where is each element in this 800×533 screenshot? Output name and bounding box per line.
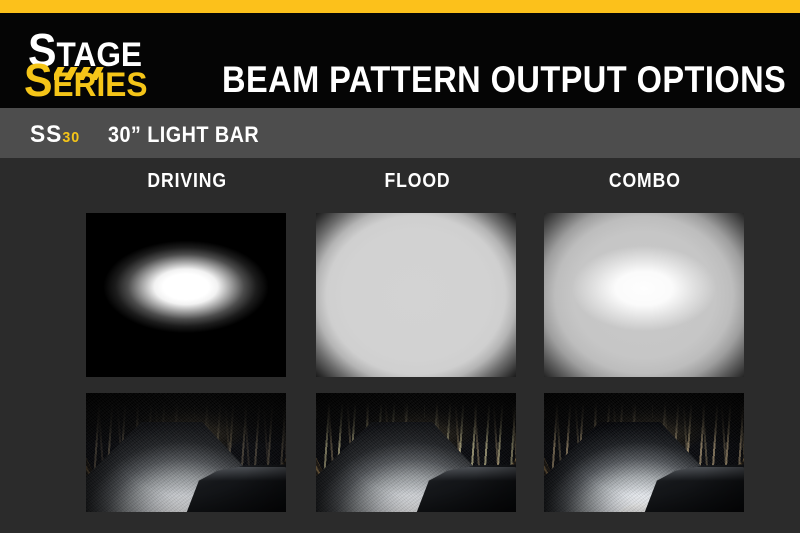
photo-vignette — [544, 393, 744, 512]
driving-road-photo — [86, 393, 286, 512]
product-subtitle-bar: SS30 30” LIGHT BAR — [0, 108, 800, 158]
photo-vignette — [86, 393, 286, 512]
page-title: BEAM PATTERN OUTPUT OPTIONS — [222, 59, 786, 101]
flood-road-photo — [316, 393, 516, 512]
top-accent-bar — [0, 0, 800, 13]
column-label-driving: DRIVING — [72, 170, 302, 193]
stage-series-logo: STAGE SERIES — [28, 27, 188, 99]
photo-vignette — [316, 393, 516, 512]
logo-series-text: SERIES — [24, 57, 147, 103]
combo-road-photo — [544, 393, 744, 512]
header-bar: STAGE SERIES BEAM PATTERN OUTPUT OPTIONS — [0, 13, 800, 108]
flood-beam-pattern — [316, 213, 516, 377]
sku-number: 30 — [62, 129, 80, 146]
driving-beam-pattern — [86, 213, 286, 377]
sku-prefix: SS — [30, 121, 62, 148]
combo-beam-pattern — [544, 213, 744, 377]
column-label-combo: COMBO — [530, 170, 760, 193]
product-label: 30” LIGHT BAR — [108, 122, 259, 148]
sku-badge: SS30 — [30, 121, 80, 149]
logo-series-cap: S — [24, 54, 53, 106]
column-label-flood: FLOOD — [302, 170, 532, 193]
beam-comparison-stage: DRIVING FLOOD — [0, 158, 800, 533]
logo-series-rest: ERIES — [53, 66, 148, 104]
